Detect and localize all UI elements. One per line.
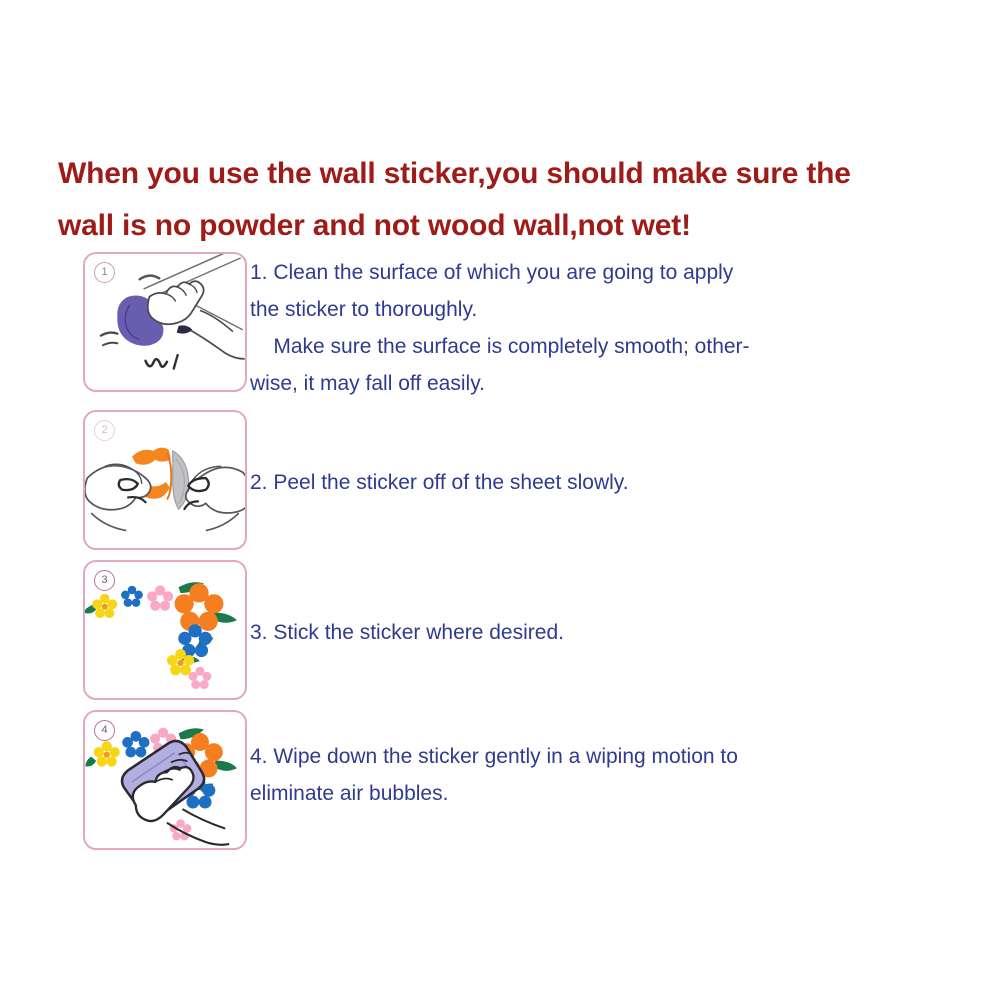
step-4-badge: 4 <box>94 720 115 741</box>
steps-list: 1 <box>0 252 1002 850</box>
step-row: 2 <box>0 410 1002 552</box>
step-2-illustration-panel: 2 <box>83 410 247 550</box>
step-2-text: 2. Peel the sticker off of the sheet slo… <box>250 464 629 501</box>
step-2-panel-wrap: 2 <box>0 410 250 550</box>
step-3-illustration-panel: 3 <box>83 560 247 700</box>
step-1-badge: 1 <box>94 262 115 283</box>
step-3-panel-wrap: 3 <box>0 560 250 700</box>
step-3-badge: 3 <box>94 570 115 591</box>
step-1-illustration-panel: 1 <box>83 252 247 392</box>
step-4-illustration-panel: 4 <box>83 710 247 850</box>
step-row: 3 <box>0 560 1002 702</box>
step-row: 1 <box>0 252 1002 402</box>
step-4-text: 4. Wipe down the sticker gently in a wip… <box>250 710 1002 812</box>
step-row: 4 <box>0 710 1002 850</box>
step-2-badge: 2 <box>94 420 115 441</box>
page-title: When you use the wall sticker,you should… <box>58 148 918 252</box>
step-1-panel-wrap: 1 <box>0 252 250 392</box>
step-3-text: 3. Stick the sticker where desired. <box>250 614 564 651</box>
step-1-text: 1. Clean the surface of which you are go… <box>250 252 1002 402</box>
step-4-panel-wrap: 4 <box>0 710 250 850</box>
